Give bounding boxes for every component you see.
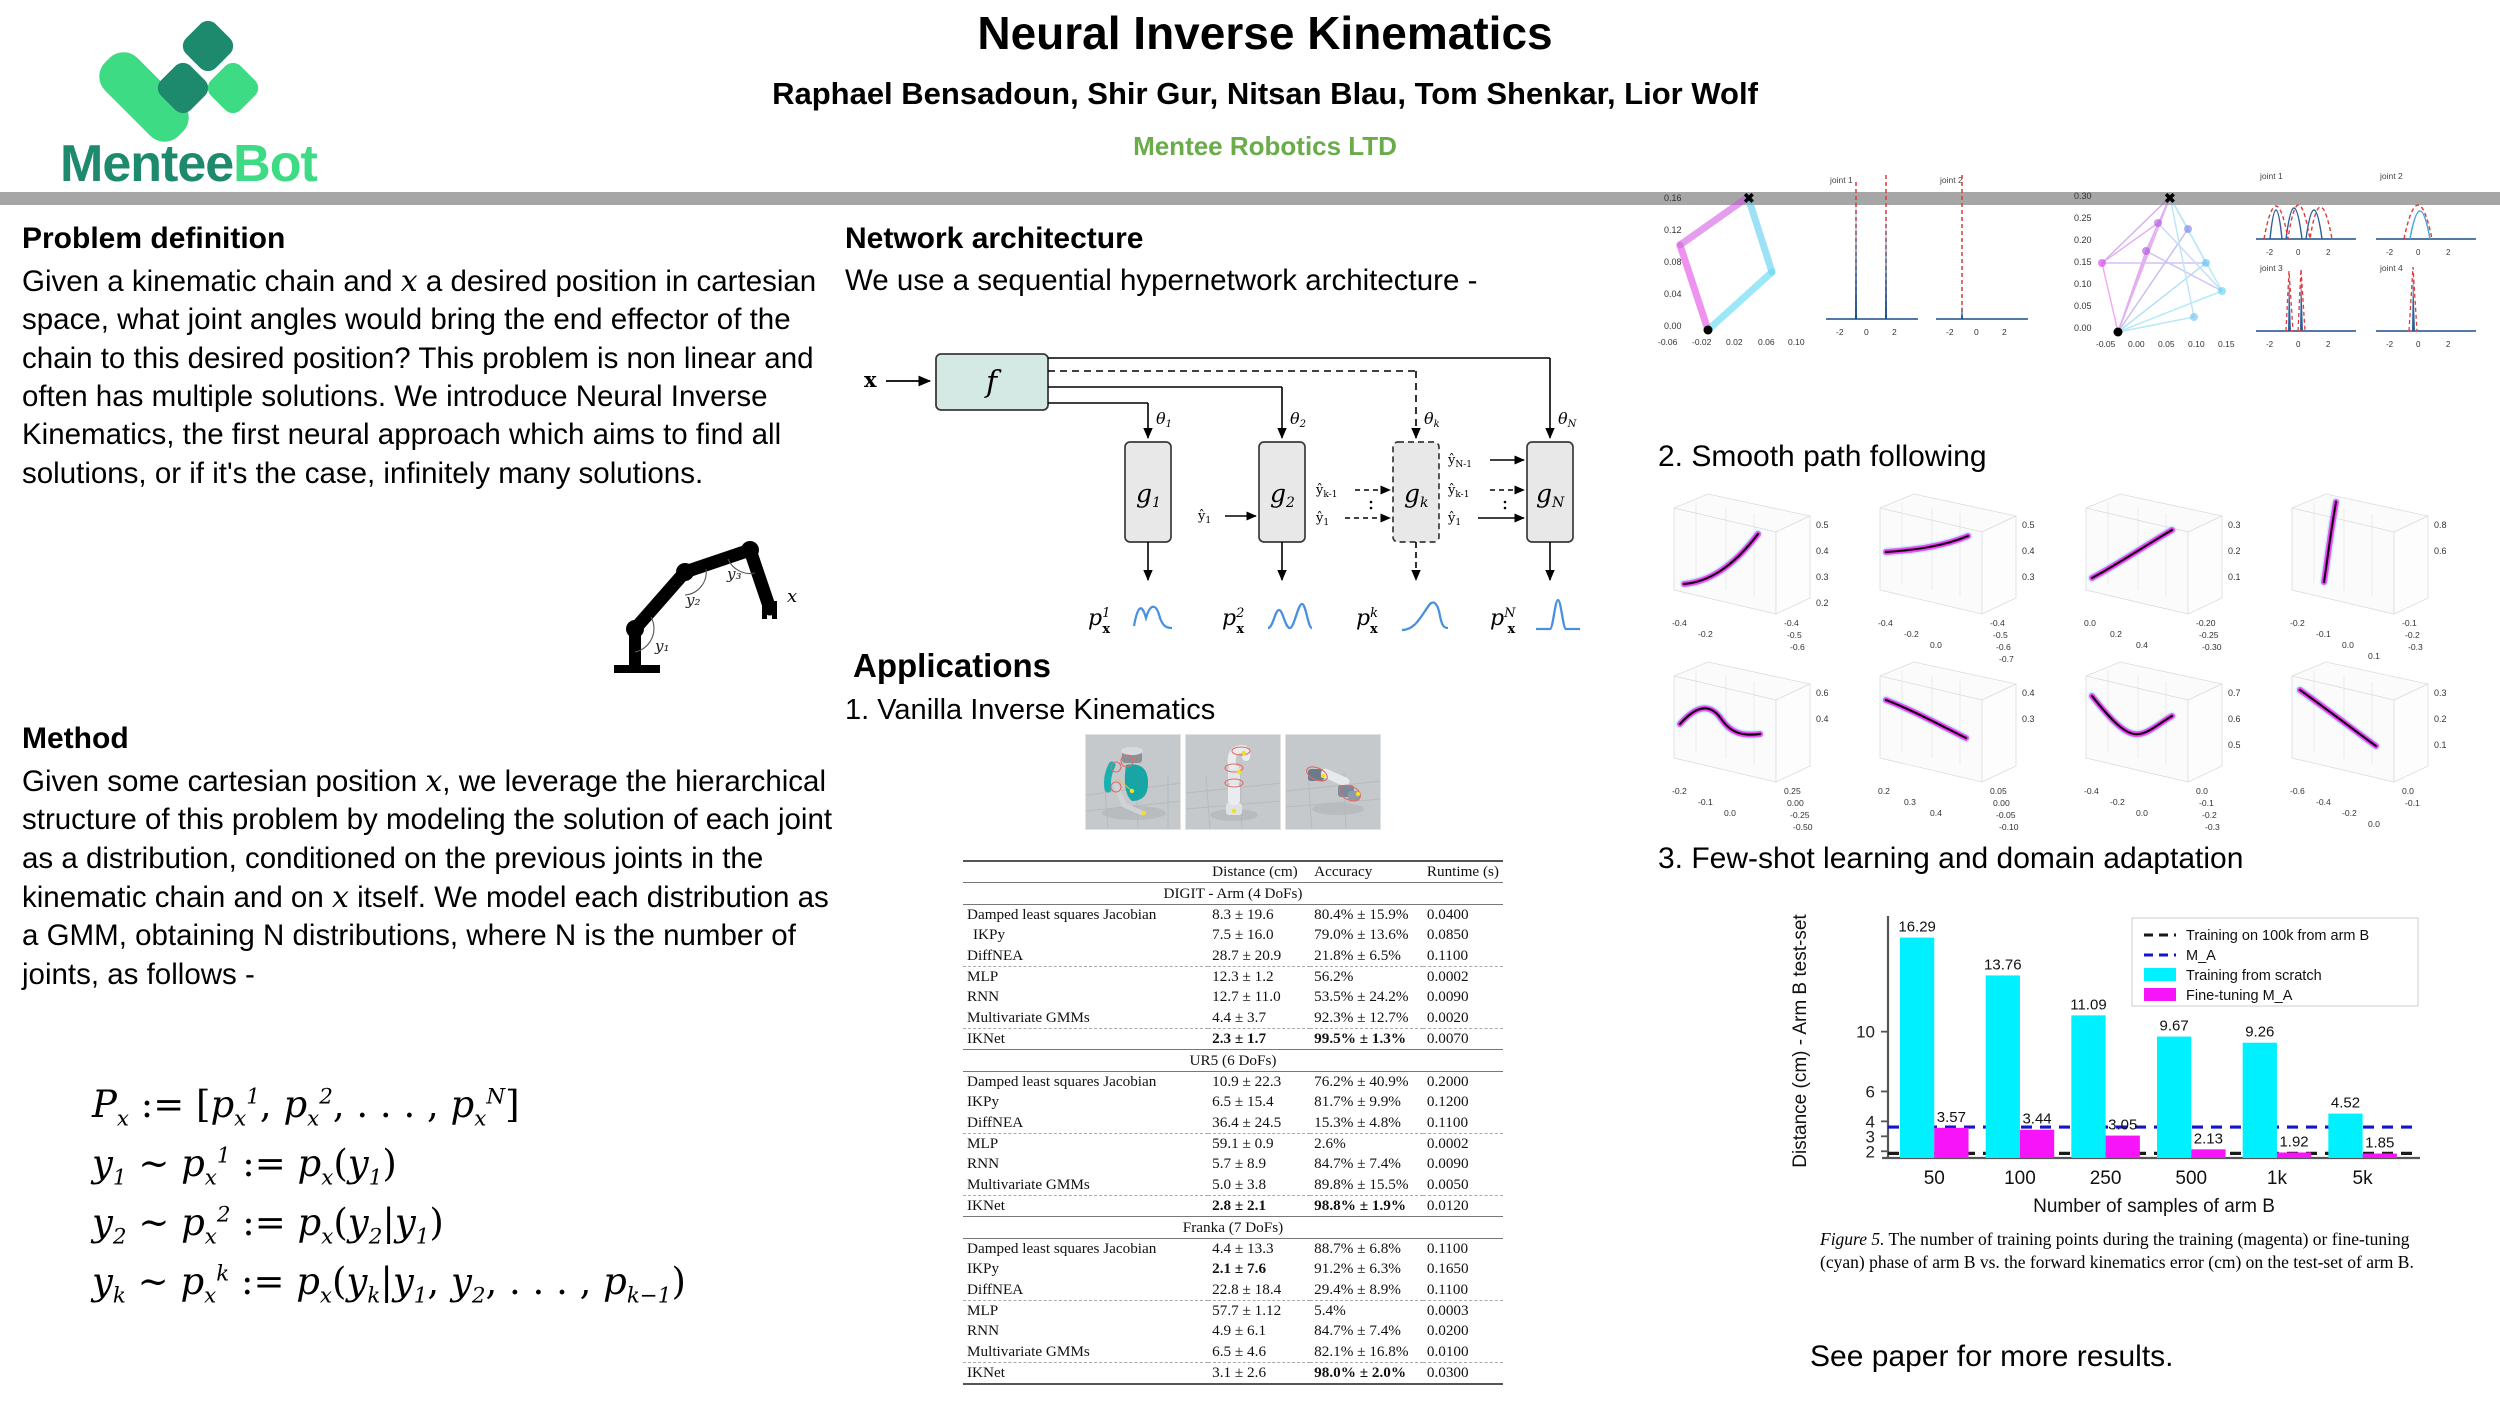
- path-xtick: -0.4: [2084, 786, 2099, 796]
- row-method-name: Damped least squares Jacobian: [963, 904, 1208, 925]
- path-xtick: 0.4: [2136, 640, 2148, 650]
- applications-heading: Applications: [853, 647, 1051, 685]
- network-architecture-heading: Network architecture: [845, 222, 1635, 256]
- column-header: Distance (cm): [1208, 861, 1310, 883]
- ik-right-ytick-4: 0.10: [2074, 279, 2092, 289]
- ik-right-j1-x2: 2: [2326, 248, 2331, 257]
- ik-right-joint-2-title: joint 2: [2379, 171, 2403, 181]
- ik-right-j2-x1: 0: [2416, 248, 2421, 257]
- row-distance: 2.8 ± 2.1: [1208, 1196, 1310, 1217]
- column-header: Runtime (s): [1423, 861, 1503, 883]
- px-label-2: p2x: [1222, 606, 1244, 637]
- path-ytick: 0.05: [1990, 786, 2007, 796]
- row-method-name: MLP: [963, 966, 1208, 987]
- row-method-name: Multivariate GMMs: [963, 1175, 1208, 1196]
- path-xtick: -0.2: [2342, 808, 2357, 818]
- arm-label-end-effector: x: [787, 586, 797, 607]
- yhat-label-1c: ŷ1: [1447, 511, 1461, 528]
- row-accuracy: 2.6%: [1310, 1133, 1423, 1154]
- ik-left-joint-2-title: joint 2: [1939, 175, 1963, 185]
- yhat-label-1b: ŷ1: [1315, 511, 1329, 528]
- bar-value-label: 1.85: [2365, 1135, 2394, 1152]
- method-text: Given some cartesian position x, we leve…: [22, 762, 834, 994]
- path-panel-8: 0.30.20.10.0-0.1-0.6-0.4-0.20.0: [2290, 662, 2447, 829]
- logo-word-bot: Bot: [233, 135, 317, 193]
- path-ytick: -0.6: [1790, 642, 1805, 652]
- yhat-label-k-1b: ŷk-1: [1447, 483, 1469, 500]
- ik-left-j2-x1: 0: [1974, 327, 1979, 337]
- path-xtick: -0.2: [2290, 618, 2305, 628]
- ik-right-plot: 0.30 0.25 0.20 0.15 0.10 0.05 0.00 -0.05…: [2074, 190, 2235, 349]
- problem-definition-text: Given a kinematic chain and x a desired …: [22, 262, 842, 493]
- path-ytick: -0.50: [1793, 822, 1813, 832]
- path-panel-4: 0.80.6-0.1-0.2-0.3-0.2-0.10.00.1: [2290, 494, 2447, 661]
- ik-left-xtick-0: -0.06: [1658, 337, 1678, 347]
- bar-value-label: 3.57: [1937, 1109, 1966, 1126]
- path-ytick: -0.6: [1996, 642, 2011, 652]
- y-tick-label: 6: [1866, 1082, 1875, 1101]
- bar-training-from-scratch: [1900, 938, 1934, 1158]
- row-method-name: IKNet: [963, 1029, 1208, 1050]
- smooth-path-figure: 0.50.40.30.2-0.4-0.5-0.6-0.4-0.20.50.40.…: [1660, 482, 2490, 817]
- x-axis-label: Number of samples of arm B: [2033, 1196, 2275, 1217]
- row-method-name: MLP: [963, 1133, 1208, 1154]
- row-method-name: DiffNEA: [963, 1280, 1208, 1301]
- row-distance: 12.3 ± 1.2: [1208, 966, 1310, 987]
- left-column: Problem definition Given a kinematic cha…: [22, 222, 842, 1402]
- row-runtime: 0.0002: [1423, 966, 1503, 987]
- row-distance: 4.9 ± 6.1: [1208, 1321, 1310, 1341]
- row-accuracy: 5.4%: [1310, 1300, 1423, 1321]
- row-method-name: RNN: [963, 1321, 1208, 1341]
- path-ztick: 0.2: [2228, 546, 2241, 556]
- path-ytick: -0.1: [2405, 798, 2420, 808]
- px-label-N: pNx: [1490, 606, 1516, 637]
- robot-image-franka: “Franka panda”: [1185, 734, 1281, 830]
- bar-value-label: 1.92: [2279, 1133, 2308, 1150]
- row-accuracy: 92.3% ± 12.7%: [1310, 1008, 1423, 1029]
- arm-label-joint3: y₃: [726, 565, 742, 583]
- table-row: MLP12.3 ± 1.256.2%0.0002: [963, 966, 1503, 987]
- path-ytick: -0.5: [1993, 630, 2008, 640]
- menteebot-logo-mark: [115, 17, 285, 137]
- path-ytick: 0.0: [2402, 786, 2414, 796]
- table-row: Damped least squares Jacobian10.9 ± 22.3…: [963, 1071, 1503, 1092]
- path-xtick: -0.2: [1672, 786, 1687, 796]
- ik-right-ytick-2: 0.20: [2074, 235, 2092, 245]
- x-tick-label: 100: [2004, 1168, 2036, 1189]
- path-xtick: -0.1: [1698, 797, 1713, 807]
- ik-left-xtick-3: 0.06: [1758, 337, 1775, 347]
- row-accuracy: 79.0% ± 13.6%: [1310, 925, 1423, 945]
- row-runtime: 0.1100: [1423, 1280, 1503, 1301]
- row-distance: 12.7 ± 11.0: [1208, 987, 1310, 1007]
- problem-symbol-x: x: [401, 264, 418, 299]
- row-accuracy: 76.2% ± 40.9%: [1310, 1071, 1423, 1092]
- path-xtick: 0.0: [1724, 808, 1736, 818]
- table-group-header: Franka (7 DoFs): [963, 1217, 1503, 1238]
- middle-column: Network architecture We use a sequential…: [845, 222, 1635, 1406]
- row-method-name: Multivariate GMMs: [963, 1008, 1208, 1029]
- results-table-inner: Distance (cm)AccuracyRuntime (s)DIGIT - …: [963, 860, 1503, 1385]
- path-ztick: 0.4: [2022, 688, 2035, 698]
- table-row: MLP59.1 ± 0.92.6%0.0002: [963, 1133, 1503, 1154]
- path-ztick: 0.4: [2022, 546, 2035, 556]
- path-ytick: -0.4: [1784, 618, 1799, 628]
- bar-training-from-scratch: [2071, 1015, 2105, 1158]
- svg-text:✖: ✖: [1743, 190, 1755, 206]
- path-ztick: 0.1: [2434, 740, 2447, 750]
- see-paper-note: See paper for more results.: [1810, 1340, 2174, 1374]
- ik-right-joint-2: joint 2 -2 0 2: [2376, 171, 2476, 257]
- figure5-caption-prefix: Figure 5.: [1820, 1229, 1884, 1249]
- path-xtick: -0.4: [2316, 797, 2331, 807]
- method-text-part-1: Given some cartesian position: [22, 765, 417, 798]
- row-accuracy: 99.5% ± 1.3%: [1310, 1029, 1423, 1050]
- ik-left-j2-x0: -2: [1946, 327, 1954, 337]
- problem-text-rest: in cartesian space, what joint angles wo…: [22, 265, 816, 490]
- ik-left-joint-1-title: joint 1: [1829, 175, 1853, 185]
- row-distance: 3.1 ± 2.6: [1208, 1363, 1310, 1385]
- ik-left-xtick-4: 0.10: [1788, 337, 1805, 347]
- row-runtime: 0.1100: [1423, 946, 1503, 967]
- yhat-label-N-1: ŷN-1: [1447, 453, 1472, 470]
- path-ztick: 0.6: [2434, 546, 2447, 556]
- ik-left-j1-x2: 2: [1892, 327, 1897, 337]
- logo-word-mentee: Mentee: [60, 135, 233, 193]
- path-ztick: 0.4: [1816, 546, 1829, 556]
- path-ztick: 0.8: [2434, 520, 2447, 530]
- table-row: Damped least squares Jacobian8.3 ± 19.68…: [963, 904, 1503, 925]
- row-distance: 57.7 ± 1.12: [1208, 1300, 1310, 1321]
- y-tick-label: 10: [1856, 1023, 1875, 1042]
- y-tick-label: 2: [1866, 1142, 1875, 1161]
- path-ytick: 0.25: [1784, 786, 1801, 796]
- row-runtime: 0.0200: [1423, 1321, 1503, 1341]
- path-ytick: -0.7: [1999, 654, 2014, 664]
- author-list: Raphael Bensadoun, Shir Gur, Nitsan Blau…: [640, 76, 1890, 112]
- row-runtime: 0.0100: [1423, 1342, 1503, 1363]
- path-ztick: 0.5: [2228, 740, 2241, 750]
- table-row: IKPy6.5 ± 15.481.7% ± 9.9%0.1200: [963, 1092, 1503, 1112]
- page-title: Neural Inverse Kinematics: [640, 8, 1890, 60]
- path-ytick: -0.5: [1787, 630, 1802, 640]
- svg-text:✖: ✖: [2164, 190, 2176, 206]
- network-architecture-subtitle: We use a sequential hypernetwork archite…: [845, 262, 1635, 300]
- problem-definition-heading: Problem definition: [22, 222, 842, 256]
- px-label-k: pkx: [1356, 606, 1378, 637]
- ik-right-joint-3: joint 3 -2 0 2: [2256, 263, 2356, 349]
- method-symbol-x-2: x: [332, 880, 349, 915]
- row-runtime: 0.1650: [1423, 1259, 1503, 1279]
- ik-left-j1-x1: 0: [1864, 327, 1869, 337]
- path-ytick: -0.05: [1996, 810, 2016, 820]
- path-panel-1: 0.50.40.30.2-0.4-0.5-0.6-0.4-0.2: [1672, 494, 1829, 652]
- table-row: Multivariate GMMs5.0 ± 3.889.8% ± 15.5%0…: [963, 1175, 1503, 1196]
- menteebot-wordmark: MenteeBot: [60, 134, 317, 194]
- table-row: DiffNEA22.8 ± 18.429.4% ± 8.9%0.1100: [963, 1280, 1503, 1301]
- row-method-name: IKNet: [963, 1196, 1208, 1217]
- table-row: IKNet3.1 ± 2.698.0% ± 2.0%0.0300: [963, 1363, 1503, 1385]
- path-ztick: 0.3: [2228, 520, 2241, 530]
- path-panel-2: 0.50.40.3-0.4-0.5-0.6-0.7-0.4-0.20.0: [1878, 494, 2035, 664]
- column-header: Accuracy: [1310, 861, 1423, 883]
- ik-right-joint-3-title: joint 3: [2259, 263, 2283, 273]
- ik-right-ytick-6: 0.00: [2074, 323, 2092, 333]
- legend-label: Fine-tuning M_A: [2186, 988, 2293, 1004]
- group-title: Franka (7 DoFs): [963, 1217, 1503, 1238]
- row-runtime: 0.1200: [1423, 1092, 1503, 1112]
- path-ytick: -0.2: [2202, 810, 2217, 820]
- row-distance: 36.4 ± 24.5: [1208, 1113, 1310, 1134]
- path-ztick: 0.2: [2434, 714, 2447, 724]
- ik-left-xtick-2: 0.02: [1726, 337, 1743, 347]
- table-row: DiffNEA28.7 ± 20.921.8% ± 6.5%0.1100: [963, 946, 1503, 967]
- ik-right-ytick-5: 0.05: [2074, 301, 2092, 311]
- table-group-header: UR5 (6 DoFs): [963, 1050, 1503, 1071]
- x-tick-label: 500: [2175, 1168, 2207, 1189]
- figure5-caption-text: The number of training points during the…: [1820, 1229, 2414, 1272]
- path-xtick: 0.0: [2368, 819, 2380, 829]
- table-row: RNN4.9 ± 6.184.7% ± 7.4%0.0200: [963, 1321, 1503, 1341]
- legend-label: M_A: [2186, 948, 2216, 964]
- group-title: DIGIT - Arm (4 DoFs): [963, 883, 1503, 904]
- ik-right-j1-x1: 0: [2296, 248, 2301, 257]
- table-row: IKPy7.5 ± 16.079.0% ± 13.6%0.0850: [963, 925, 1503, 945]
- robot-images-row: “Digit”* “Franka panda”: [1085, 734, 1385, 859]
- path-ytick: -0.30: [2202, 642, 2222, 652]
- path-ztick: 0.7: [2228, 688, 2241, 698]
- row-runtime: 0.0070: [1423, 1029, 1503, 1050]
- right-column: 0.16 0.12 0.08 0.04 0.00 -0.06 -0.02 0.0…: [1650, 222, 2495, 1406]
- row-method-name: IKNet: [963, 1363, 1208, 1385]
- ik-right-j4-x0: -2: [2386, 340, 2394, 349]
- row-distance: 6.5 ± 15.4: [1208, 1092, 1310, 1112]
- path-ztick: 0.2: [1816, 598, 1829, 608]
- row-method-name: Multivariate GMMs: [963, 1342, 1208, 1363]
- row-runtime: 0.0300: [1423, 1363, 1503, 1385]
- bar-value-label: 9.26: [2245, 1024, 2274, 1041]
- row-distance: 2.1 ± 7.6: [1208, 1259, 1310, 1279]
- theta-label-1: θ1: [1156, 409, 1172, 430]
- table-row: MLP57.7 ± 1.125.4%0.0003: [963, 1300, 1503, 1321]
- equation-px-vector: Px := [px1, px2, . . . , pxN]: [92, 1077, 832, 1136]
- row-method-name: DiffNEA: [963, 1113, 1208, 1134]
- path-xtick: 0.4: [1930, 808, 1942, 818]
- path-xtick: -0.4: [1672, 618, 1687, 628]
- table-group-header: DIGIT - Arm (4 DoFs): [963, 883, 1503, 904]
- table-row: IKNet2.3 ± 1.799.5% ± 1.3%0.0070: [963, 1029, 1503, 1050]
- path-ztick: 0.1: [2228, 572, 2241, 582]
- row-accuracy: 84.7% ± 7.4%: [1310, 1321, 1423, 1341]
- row-runtime: 0.0050: [1423, 1175, 1503, 1196]
- row-runtime: 0.0120: [1423, 1196, 1503, 1217]
- ik-right-xtick-3: 0.10: [2188, 339, 2205, 349]
- row-method-name: DiffNEA: [963, 946, 1208, 967]
- robot-image-ur5: “UR5”: [1285, 734, 1381, 830]
- row-distance: 5.0 ± 3.8: [1208, 1175, 1310, 1196]
- bar-training-from-scratch: [2328, 1114, 2362, 1158]
- path-ztick: 0.4: [1816, 714, 1829, 724]
- ik-right-j4-x1: 0: [2416, 340, 2421, 349]
- path-xtick: 0.2: [2110, 629, 2122, 639]
- ik-right-ytick-3: 0.15: [2074, 257, 2092, 267]
- row-accuracy: 81.7% ± 9.9%: [1310, 1092, 1423, 1112]
- row-accuracy: 91.2% ± 6.3%: [1310, 1259, 1423, 1279]
- ik-left-ytick-0: 0.16: [1664, 193, 1682, 203]
- path-xtick: -0.4: [1878, 618, 1893, 628]
- path-xtick: -0.1: [2316, 629, 2331, 639]
- ik-left-xtick-1: -0.02: [1692, 337, 1712, 347]
- row-runtime: 0.0003: [1423, 1300, 1503, 1321]
- row-distance: 28.7 ± 20.9: [1208, 946, 1310, 967]
- ik-right-xtick-2: 0.05: [2158, 339, 2175, 349]
- path-ytick: -0.3: [2408, 642, 2423, 652]
- bar-fine-tuning-m_a: [2106, 1136, 2140, 1158]
- figure5-caption: Figure 5. The number of training points …: [1820, 1228, 2440, 1274]
- path-ytick: -0.4: [1990, 618, 2005, 628]
- robot-image-digit: “Digit”*: [1085, 734, 1181, 830]
- path-xtick: -0.6: [2290, 786, 2305, 796]
- bar-fine-tuning-m_a: [2020, 1130, 2054, 1158]
- row-accuracy: 80.4% ± 15.9%: [1310, 904, 1423, 925]
- network-input-label: x: [864, 367, 877, 392]
- path-xtick: 0.0: [1930, 640, 1942, 650]
- arm-label-joint2: y₂: [685, 591, 701, 609]
- path-ytick: -0.1: [2199, 798, 2214, 808]
- row-method-name: IKPy: [963, 925, 1208, 945]
- row-distance: 2.3 ± 1.7: [1208, 1029, 1310, 1050]
- affiliation: Mentee Robotics LTD: [640, 131, 1890, 162]
- ik-left-ytick-3: 0.04: [1664, 289, 1682, 299]
- row-distance: 4.4 ± 3.7: [1208, 1008, 1310, 1029]
- row-distance: 10.9 ± 22.3: [1208, 1071, 1310, 1092]
- problem-text-part-1: Given a kinematic chain and: [22, 265, 393, 298]
- path-ztick: 0.6: [1816, 688, 1829, 698]
- table-row: RNN5.7 ± 8.984.7% ± 7.4%0.0090: [963, 1154, 1503, 1174]
- bar-fine-tuning-m_a: [2277, 1152, 2311, 1158]
- column-header: [963, 861, 1208, 883]
- row-method-name: Damped least squares Jacobian: [963, 1071, 1208, 1092]
- ik-left-joint-2: joint 2 -2 0 2: [1936, 175, 2028, 337]
- path-ztick: 0.5: [1816, 520, 1829, 530]
- row-runtime: 0.0002: [1423, 1133, 1503, 1154]
- bar-value-label: 3.05: [2108, 1117, 2137, 1134]
- bar-value-label: 9.67: [2160, 1018, 2189, 1035]
- table-header-row: Distance (cm)AccuracyRuntime (s): [963, 861, 1503, 883]
- x-tick-label: 1k: [2267, 1168, 2288, 1189]
- row-accuracy: 15.3% ± 4.8%: [1310, 1113, 1423, 1134]
- path-ytick: -0.2: [2405, 630, 2420, 640]
- px-label-1: p1x: [1088, 606, 1110, 637]
- theta-label-k: θk: [1424, 409, 1440, 430]
- network-architecture-diagram: x f θ1 θ2 θk θN g1 g2 gk gN ŷ1 ŷk-1 ŷ1: [850, 342, 1630, 642]
- equation-y1: y1 ~ px1 := px(y1): [92, 1136, 832, 1195]
- figure5-bar-chart: 10643216.293.575013.763.4410011.093.0525…: [1780, 890, 2480, 1220]
- row-distance: 22.8 ± 18.4: [1208, 1280, 1310, 1301]
- row-runtime: 0.0090: [1423, 987, 1503, 1007]
- table-row: Multivariate GMMs4.4 ± 3.792.3% ± 12.7%0…: [963, 1008, 1503, 1029]
- bar-training-from-scratch: [2157, 1037, 2191, 1158]
- row-runtime: 0.0850: [1423, 925, 1503, 945]
- ik-right-joint-1-title: joint 1: [2259, 171, 2283, 181]
- ik-right-xtick-4: 0.15: [2218, 339, 2235, 349]
- path-ztick: 0.3: [2434, 688, 2447, 698]
- row-accuracy: 21.8% ± 6.5%: [1310, 946, 1423, 967]
- path-xtick: -0.2: [1698, 629, 1713, 639]
- path-ztick: 0.3: [1816, 572, 1829, 582]
- legend-label: Training on 100k from arm B: [2186, 928, 2369, 944]
- path-ztick: 0.5: [2022, 520, 2035, 530]
- ik-left-ytick-1: 0.12: [1664, 225, 1682, 235]
- application-1-label: 1. Vanilla Inverse Kinematics: [845, 694, 1215, 727]
- problem-text-part-2: a desired position: [426, 265, 657, 298]
- ik-right-xtick-1: 0.00: [2128, 339, 2145, 349]
- ik-right-ytick-1: 0.25: [2074, 213, 2092, 223]
- robot-arm-diagram: y₁ y₂ y₃ x: [602, 537, 842, 687]
- ik-right-joint-4-title: joint 4: [2379, 263, 2403, 273]
- row-accuracy: 29.4% ± 8.9%: [1310, 1280, 1423, 1301]
- row-method-name: IKPy: [963, 1092, 1208, 1112]
- path-panel-3: 0.30.20.1-0.20-0.25-0.300.00.20.4: [2084, 494, 2241, 652]
- bar-training-from-scratch: [1986, 975, 2020, 1158]
- row-distance: 6.5 ± 4.6: [1208, 1342, 1310, 1363]
- row-runtime: 0.0400: [1423, 904, 1503, 925]
- path-ytick: -0.25: [2199, 630, 2219, 640]
- yhat-label-1: ŷ1: [1197, 509, 1211, 526]
- path-xtick: -0.2: [2110, 797, 2125, 807]
- table-row: RNN12.7 ± 11.053.5% ± 24.2%0.0090: [963, 987, 1503, 1007]
- path-panel-6: 0.40.30.050.00-0.05-0.100.20.30.4: [1878, 662, 2035, 832]
- path-ytick: -0.1: [2402, 618, 2417, 628]
- method-symbol-x-1: x: [425, 764, 442, 799]
- row-distance: 4.4 ± 13.3: [1208, 1238, 1310, 1259]
- bar-value-label: 16.29: [1898, 919, 1936, 936]
- path-ztick: 0.3: [2022, 572, 2035, 582]
- ik-left-ytick-2: 0.08: [1664, 257, 1682, 267]
- path-ytick: -0.10: [1999, 822, 2019, 832]
- yhat-label-k-1: ŷk-1: [1315, 483, 1337, 500]
- row-method-name: RNN: [963, 1154, 1208, 1174]
- path-panel-5: 0.60.40.250.00-0.25-0.50-0.2-0.10.0: [1672, 662, 1829, 832]
- ik-left-plot: 0.16 0.12 0.08 0.04 0.00 -0.06 -0.02 0.0…: [1658, 190, 1805, 347]
- ik-right-joint-4: joint 4 -2 0 2: [2376, 263, 2476, 349]
- theta-label-N: θN: [1558, 409, 1578, 430]
- row-runtime: 0.1100: [1423, 1238, 1503, 1259]
- ik-right-joint-1: joint 1 -2 0 2: [2256, 171, 2356, 257]
- bar-fine-tuning-m_a: [1934, 1128, 1968, 1158]
- ik-left-j2-x2: 2: [2002, 327, 2007, 337]
- path-ytick: 0.0: [2196, 786, 2208, 796]
- bar-fine-tuning-m_a: [2191, 1149, 2225, 1158]
- bar-value-label: 11.09: [2070, 996, 2106, 1013]
- y-axis-label: Distance (cm) - Arm B test-set: [1790, 914, 1811, 1168]
- ik-solutions-figure: 0.16 0.12 0.08 0.04 0.00 -0.06 -0.02 0.0…: [1650, 167, 2495, 407]
- application-2-label: 2. Smooth path following: [1658, 440, 1987, 474]
- path-panel-7: 0.70.60.50.0-0.1-0.2-0.3-0.4-0.20.0: [2084, 662, 2241, 832]
- row-runtime: 0.0090: [1423, 1154, 1503, 1174]
- menteebot-logo: MenteeBot: [60, 12, 360, 197]
- path-ytick: -0.3: [2205, 822, 2220, 832]
- path-ytick: 0.00: [1993, 798, 2010, 808]
- equation-yk: yk ~ pxk := px(yk|y1, y2, . . . , pk−1): [92, 1254, 832, 1313]
- ik-right-j2-x0: -2: [2386, 248, 2394, 257]
- ik-right-j3-x0: -2: [2266, 340, 2274, 349]
- ik-right-j3-x2: 2: [2326, 340, 2331, 349]
- ik-right-ytick-0: 0.30: [2074, 191, 2092, 201]
- path-xtick: 0.2: [1878, 786, 1890, 796]
- x-tick-label: 5k: [2353, 1168, 2374, 1189]
